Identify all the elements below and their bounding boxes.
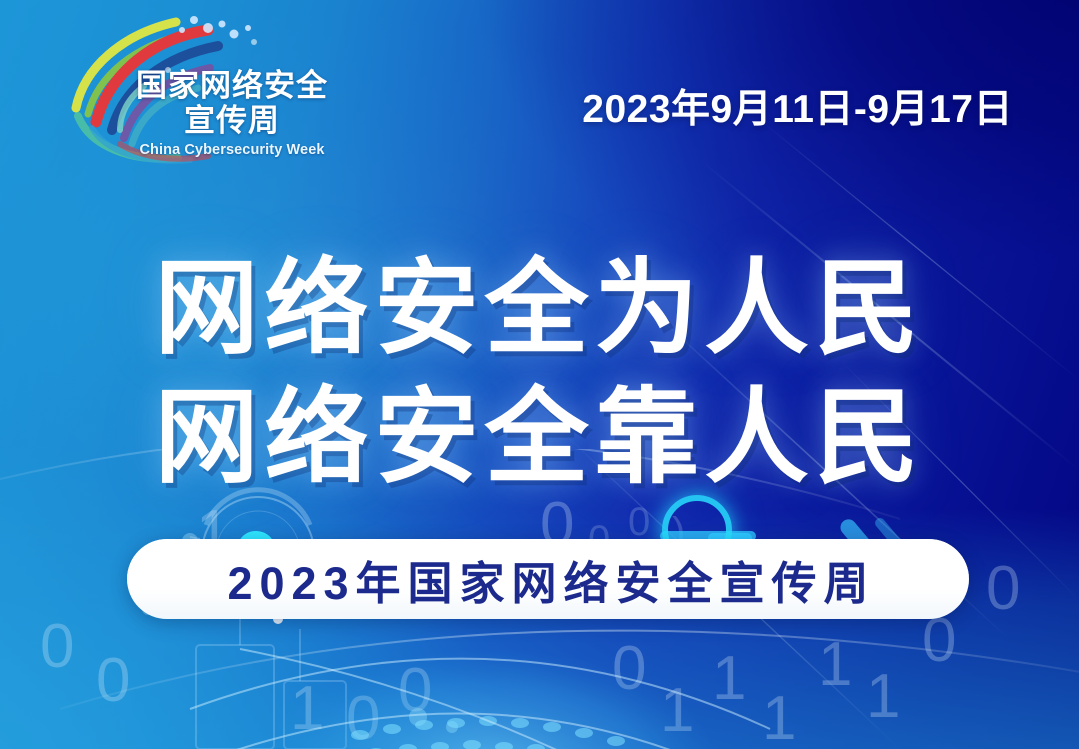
china-cybersecurity-week-logo: 国家网络安全 宣传周 China Cybersecurity Week (58, 12, 340, 164)
headline-line-1: 网络安全为人民 (0, 248, 1079, 371)
event-name-text: 2023年国家网络安全宣传周 (220, 547, 875, 612)
logo-title-line1: 国家网络安全 (124, 70, 340, 101)
logo-text-block: 国家网络安全 宣传周 China Cybersecurity Week (124, 70, 340, 158)
event-date-range: 2023年9月11日-9月17日 (582, 78, 1013, 134)
logo-subtitle-english: China Cybersecurity Week (124, 143, 340, 158)
headline-line-2: 网络安全靠人民 (0, 377, 1079, 500)
poster-canvas: 1 0 0 0 1 1 1 1 1 0 0 1 0 0 0 0 0 0 ) (0, 0, 1079, 749)
event-name-pill-banner: 2023年国家网络安全宣传周 (127, 539, 969, 619)
logo-title-line2: 宣传周 (124, 105, 340, 136)
headline-block: 网络安全为人民 网络安全靠人民 (0, 248, 1079, 499)
